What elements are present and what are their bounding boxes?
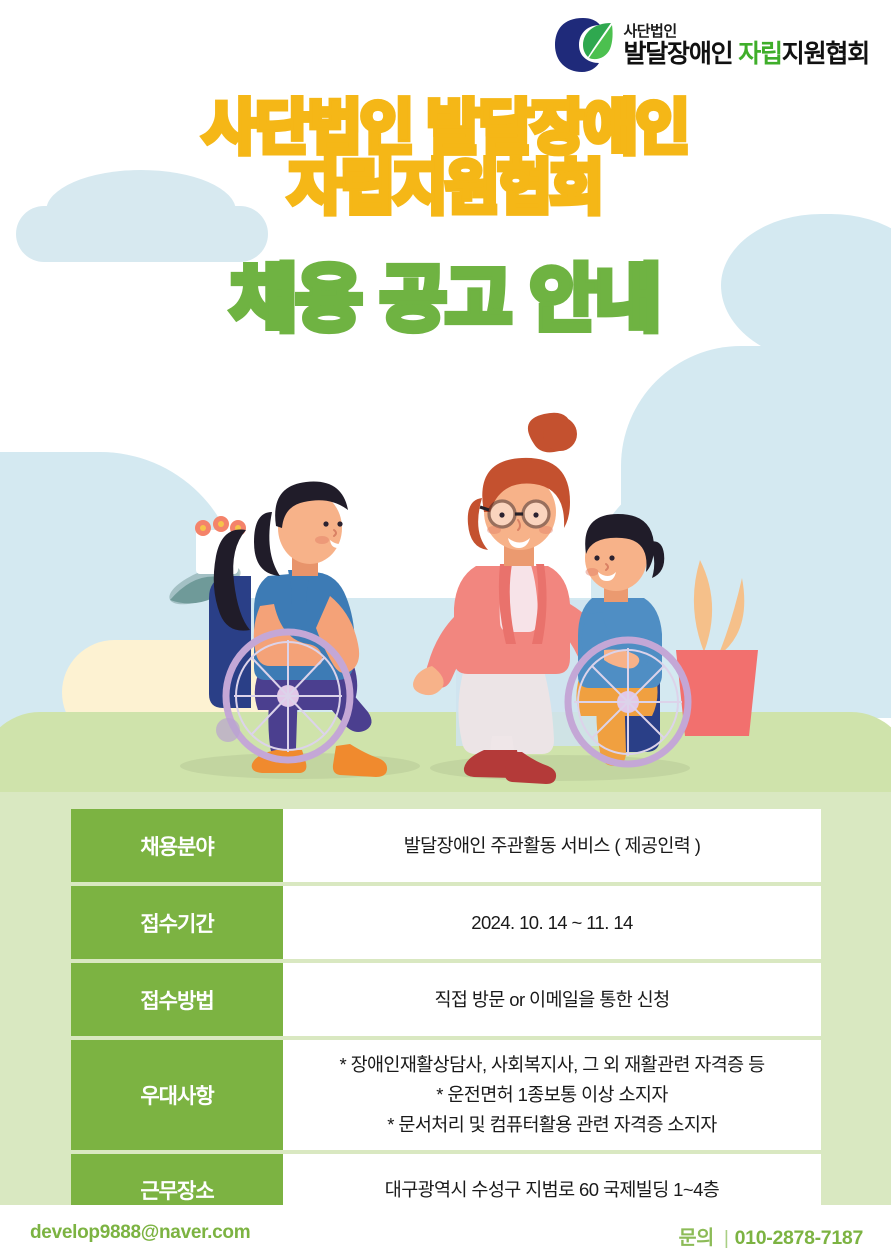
- table-row: 우대사항 * 장애인재활상담사, 사회복지사, 그 외 재활관련 자격증 등 *…: [71, 1040, 821, 1150]
- wheelchair-wheel-left: [226, 632, 350, 760]
- organization-logo: 사단법인 발달장애인 자립지원협회: [553, 16, 869, 74]
- phone-number[interactable]: 010-2878-7187: [735, 1227, 863, 1249]
- table-value-cell: 2024. 10. 14 ~ 11. 14: [283, 886, 821, 959]
- separator-bar: |: [724, 1227, 729, 1249]
- table-value-line: 대구광역시 수성구 지범로 60 국제빌딩 1~4층: [297, 1175, 807, 1205]
- table-label-cell: 접수기간: [71, 886, 283, 959]
- inquiry-label: 문의: [679, 1227, 714, 1249]
- table-row: 접수기간 2024. 10. 14 ~ 11. 14: [71, 886, 821, 959]
- table-value-cell: * 장애인재활상담사, 사회복지사, 그 외 재활관련 자격증 등 * 운전면허…: [283, 1040, 821, 1150]
- logo-title-part1: 발달장애인: [623, 40, 738, 68]
- logo-text-block: 사단법인 발달장애인 자립지원협회: [623, 24, 869, 67]
- table-label-cell: 채용분야: [71, 809, 283, 882]
- table-value-line: * 문서처리 및 컴퓨터활용 관련 자격증 소지자: [297, 1110, 807, 1140]
- logo-title-highlight: 자립: [738, 40, 782, 68]
- table-label-cell: 우대사항: [71, 1040, 283, 1150]
- table-value-line: 발달장애인 주관활동 서비스 ( 제공인력 ): [297, 831, 807, 861]
- table-value-line: 2024. 10. 14 ~ 11. 14: [297, 908, 807, 938]
- people-illustration: [0, 400, 891, 820]
- headline-line-2: 자립지원협회: [0, 158, 891, 218]
- leaf-crescent-logo-icon: [553, 16, 615, 74]
- recruitment-info-table: 채용분야 발달장애인 주관활동 서비스 ( 제공인력 ) 접수기간 2024. …: [71, 805, 821, 1231]
- table-value-line: * 운전면허 1종보통 이상 소지자: [297, 1080, 807, 1110]
- table-label-cell: 접수방법: [71, 963, 283, 1036]
- headline-line-3: 채용 공고 안내: [0, 264, 891, 337]
- contact-phone-block: 문의|010-2878-7187: [679, 1221, 863, 1250]
- table-row: 채용분야 발달장애인 주관활동 서비스 ( 제공인력 ): [71, 809, 821, 882]
- wheelchair-wheel-right: [568, 640, 688, 764]
- person-woman-center: [413, 413, 612, 784]
- table-row: 접수방법 직접 방문 or 이메일을 통한 신청: [71, 963, 821, 1036]
- recruitment-poster: 사단법인 발달장애인 자립지원협회 사단법인 발달장애인 자립지원협회 채용 공…: [0, 0, 891, 1260]
- logo-subtitle: 사단법인: [623, 24, 869, 39]
- poster-headline: 사단법인 발달장애인 자립지원협회 채용 공고 안내: [0, 98, 891, 338]
- contact-email[interactable]: develop9888@naver.com: [30, 1222, 250, 1244]
- headline-line-1: 사단법인 발달장애인: [0, 98, 891, 158]
- table-value-cell: 직접 방문 or 이메일을 통한 신청: [283, 963, 821, 1036]
- table-value-line: * 장애인재활상담사, 사회복지사, 그 외 재활관련 자격증 등: [297, 1050, 807, 1080]
- table-value-line: 직접 방문 or 이메일을 통한 신청: [297, 985, 807, 1015]
- logo-title: 발달장애인 자립지원협회: [623, 42, 869, 67]
- logo-title-part2: 지원협회: [782, 40, 869, 68]
- table-value-cell: 발달장애인 주관활동 서비스 ( 제공인력 ): [283, 809, 821, 882]
